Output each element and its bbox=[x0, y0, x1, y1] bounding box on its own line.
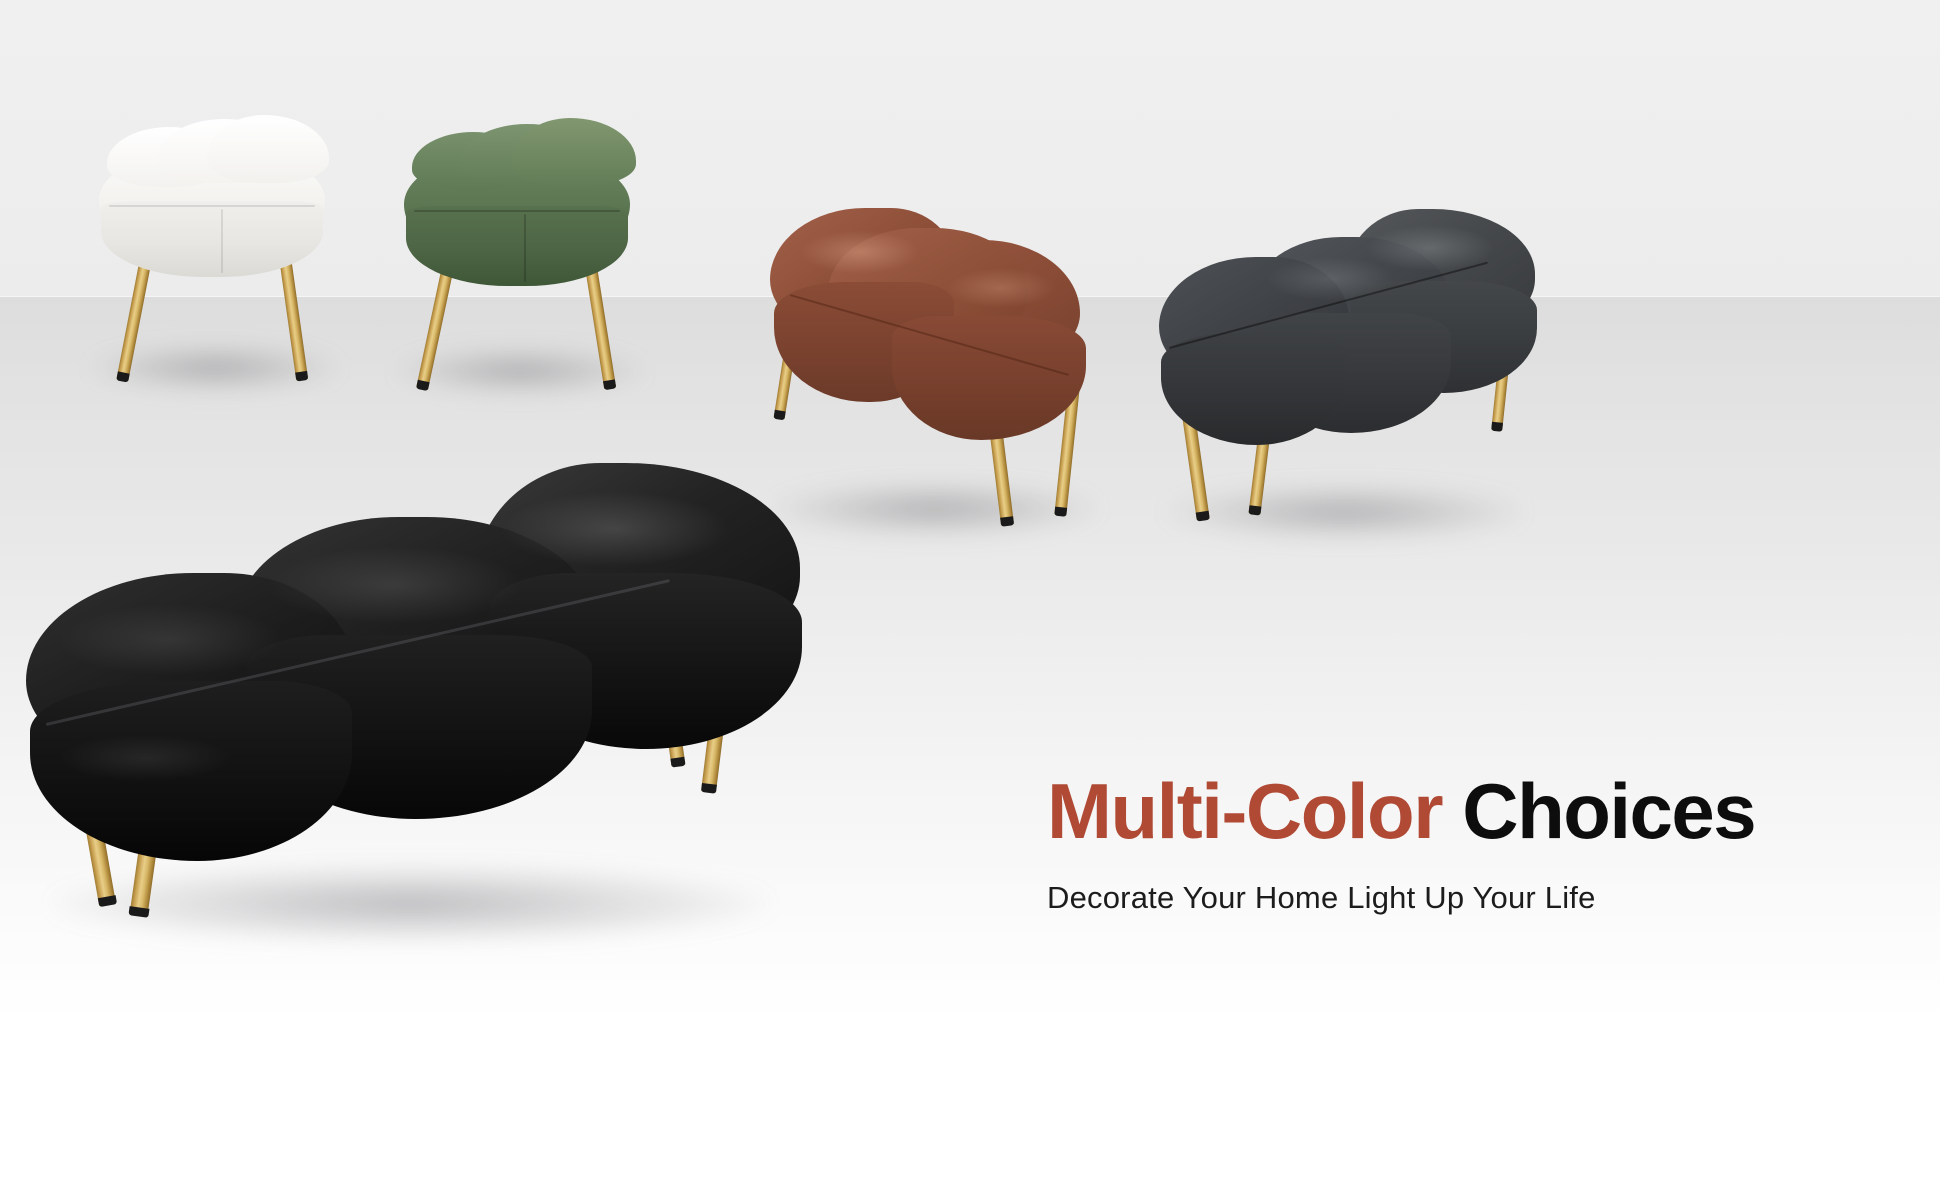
subheadline: Decorate Your Home Light Up Your Life bbox=[1047, 880, 1887, 916]
bench-charcoal-seat bbox=[1155, 195, 1555, 535]
bench-brown-seat bbox=[770, 190, 1130, 530]
product-scene bbox=[0, 0, 1940, 1200]
product-bench-black[interactable] bbox=[20, 455, 820, 925]
product-bench-white[interactable] bbox=[95, 105, 335, 385]
headline-accent: Multi-Color bbox=[1047, 767, 1442, 855]
product-bench-charcoal[interactable] bbox=[1155, 195, 1555, 535]
product-bench-brown[interactable] bbox=[770, 190, 1130, 530]
headline: Multi-Color Choices bbox=[1047, 772, 1887, 852]
product-bench-green[interactable] bbox=[400, 108, 640, 388]
headline-plain: Choices bbox=[1442, 767, 1755, 855]
bench-black-seat bbox=[20, 455, 820, 925]
bench-green-seat bbox=[400, 108, 640, 388]
marketing-copy: Multi-Color Choices Decorate Your Home L… bbox=[1047, 772, 1887, 916]
bench-white-seat bbox=[95, 105, 335, 385]
